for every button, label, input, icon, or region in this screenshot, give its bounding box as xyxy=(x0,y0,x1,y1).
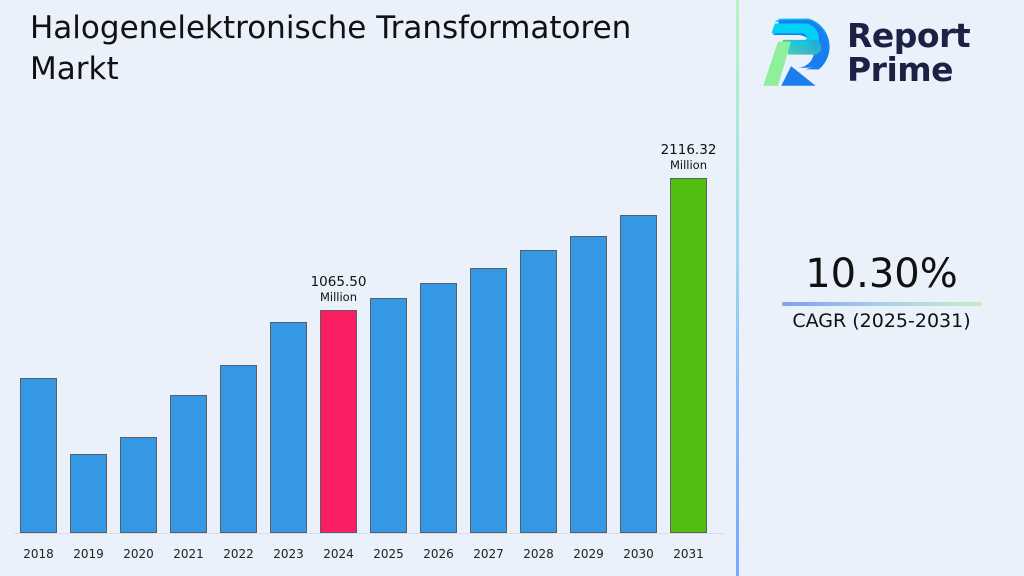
chart-panel: Halogenelektronische Transformatoren Mar… xyxy=(0,0,737,576)
bar-group-2027: 2027 xyxy=(470,0,507,576)
bar-2030[interactable] xyxy=(620,215,657,533)
bar-group-2022: 2022 xyxy=(220,0,257,576)
bar-unit-2031: Million xyxy=(630,158,747,172)
bar-2022[interactable] xyxy=(220,365,257,533)
bar-chart-plot: 2018201920202021202220231065.50Million20… xyxy=(0,0,737,576)
bar-2023[interactable] xyxy=(270,322,307,533)
bar-2020[interactable] xyxy=(120,437,157,533)
brand-logo-text: Report Prime xyxy=(847,19,970,88)
bar-value-label-2031: 2116.32Million xyxy=(630,142,747,172)
bar-group-2020: 2020 xyxy=(120,0,157,576)
bar-series: 2018201920202021202220231065.50Million20… xyxy=(0,0,737,576)
cagr-value: 10.30% xyxy=(739,252,1024,296)
infographic-root: Halogenelektronische Transformatoren Mar… xyxy=(0,0,1024,576)
bar-2018[interactable] xyxy=(20,378,57,533)
bar-2028[interactable] xyxy=(520,250,557,533)
bar-2019[interactable] xyxy=(70,454,107,533)
bar-group-2018: 2018 xyxy=(20,0,57,576)
bar-2025[interactable] xyxy=(370,298,407,533)
bar-2029[interactable] xyxy=(570,236,607,533)
bar-2026[interactable] xyxy=(420,283,457,533)
side-panel: Report Prime 10.30% CAGR (2025-2031) xyxy=(739,0,1024,576)
brand-logo: Report Prime xyxy=(755,12,1013,94)
x-axis-tick-2031: 2031 xyxy=(658,547,719,561)
bar-group-2028: 2028 xyxy=(520,0,557,576)
bar-group-2021: 2021 xyxy=(170,0,207,576)
bar-group-2025: 2025 xyxy=(370,0,407,576)
bar-group-2029: 2029 xyxy=(570,0,607,576)
bar-group-2031: 2116.32Million2031 xyxy=(670,0,707,576)
bar-2027[interactable] xyxy=(470,268,507,533)
bar-2031[interactable] xyxy=(670,178,707,533)
bar-2024[interactable] xyxy=(320,310,357,533)
bar-group-2026: 2026 xyxy=(420,0,457,576)
cagr-block: 10.30% CAGR (2025-2031) xyxy=(739,252,1024,333)
bar-2021[interactable] xyxy=(170,395,207,533)
cagr-divider-rule xyxy=(782,302,982,306)
bar-value-2031: 2116.32 xyxy=(630,142,747,158)
bar-group-2019: 2019 xyxy=(70,0,107,576)
bar-group-2030: 2030 xyxy=(620,0,657,576)
bar-group-2024: 1065.50Million2024 xyxy=(320,0,357,576)
cagr-caption: CAGR (2025-2031) xyxy=(739,310,1024,333)
report-prime-logo-icon xyxy=(755,17,837,89)
